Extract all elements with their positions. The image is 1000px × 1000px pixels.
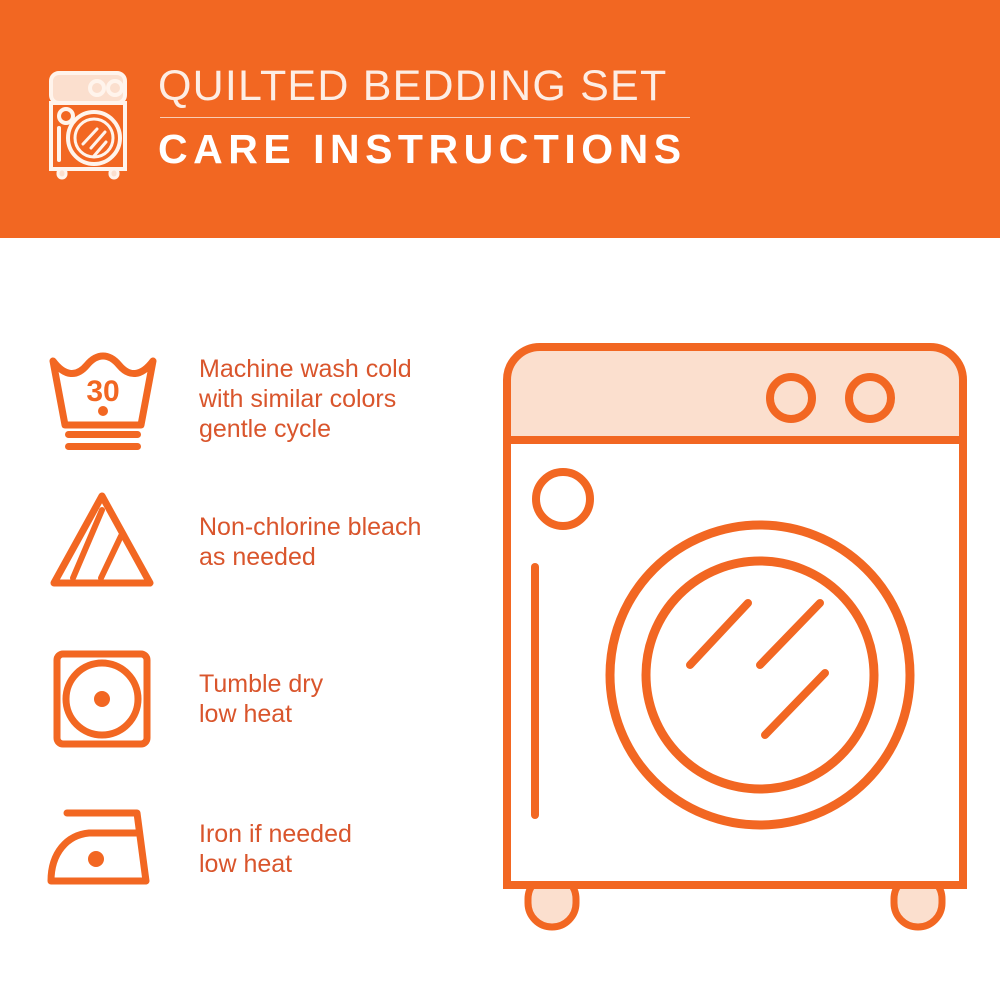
- care-instructions-list: 30 Machine wash cold with similar colors…: [0, 238, 480, 1000]
- header-content: QUILTED BEDDING SET CARE INSTRUCTIONS: [44, 62, 690, 180]
- tumble-dry-low-heat-icon: [45, 643, 167, 755]
- page-title: QUILTED BEDDING SET: [158, 62, 690, 110]
- title-block: QUILTED BEDDING SET CARE INSTRUCTIONS: [158, 62, 690, 172]
- wash-tub-30-icon: 30: [45, 343, 167, 455]
- iron-low-heat-icon: [45, 793, 167, 905]
- page-subtitle: CARE INSTRUCTIONS: [158, 126, 690, 172]
- machine-body: [507, 440, 963, 885]
- list-item: Iron if needed low heat: [45, 793, 352, 905]
- care-text: Non-chlorine bleach as needed: [199, 512, 421, 572]
- non-chlorine-bleach-triangle-icon: [45, 486, 167, 598]
- list-item: Non-chlorine bleach as needed: [45, 486, 421, 598]
- machine-control-panel: [507, 347, 963, 440]
- care-text: Iron if needed low heat: [199, 819, 352, 879]
- list-item: 30 Machine wash cold with similar colors…: [45, 343, 412, 455]
- care-text: Machine wash cold with similar colors ge…: [199, 354, 412, 444]
- wash-temperature-value: 30: [86, 375, 119, 408]
- list-item: Tumble dry low heat: [45, 643, 323, 755]
- title-divider: [160, 117, 690, 118]
- washing-machine-illustration: [495, 335, 975, 935]
- care-text: Tumble dry low heat: [199, 669, 323, 729]
- washing-machine-icon: [44, 68, 140, 180]
- header-banner: QUILTED BEDDING SET CARE INSTRUCTIONS: [0, 0, 1000, 238]
